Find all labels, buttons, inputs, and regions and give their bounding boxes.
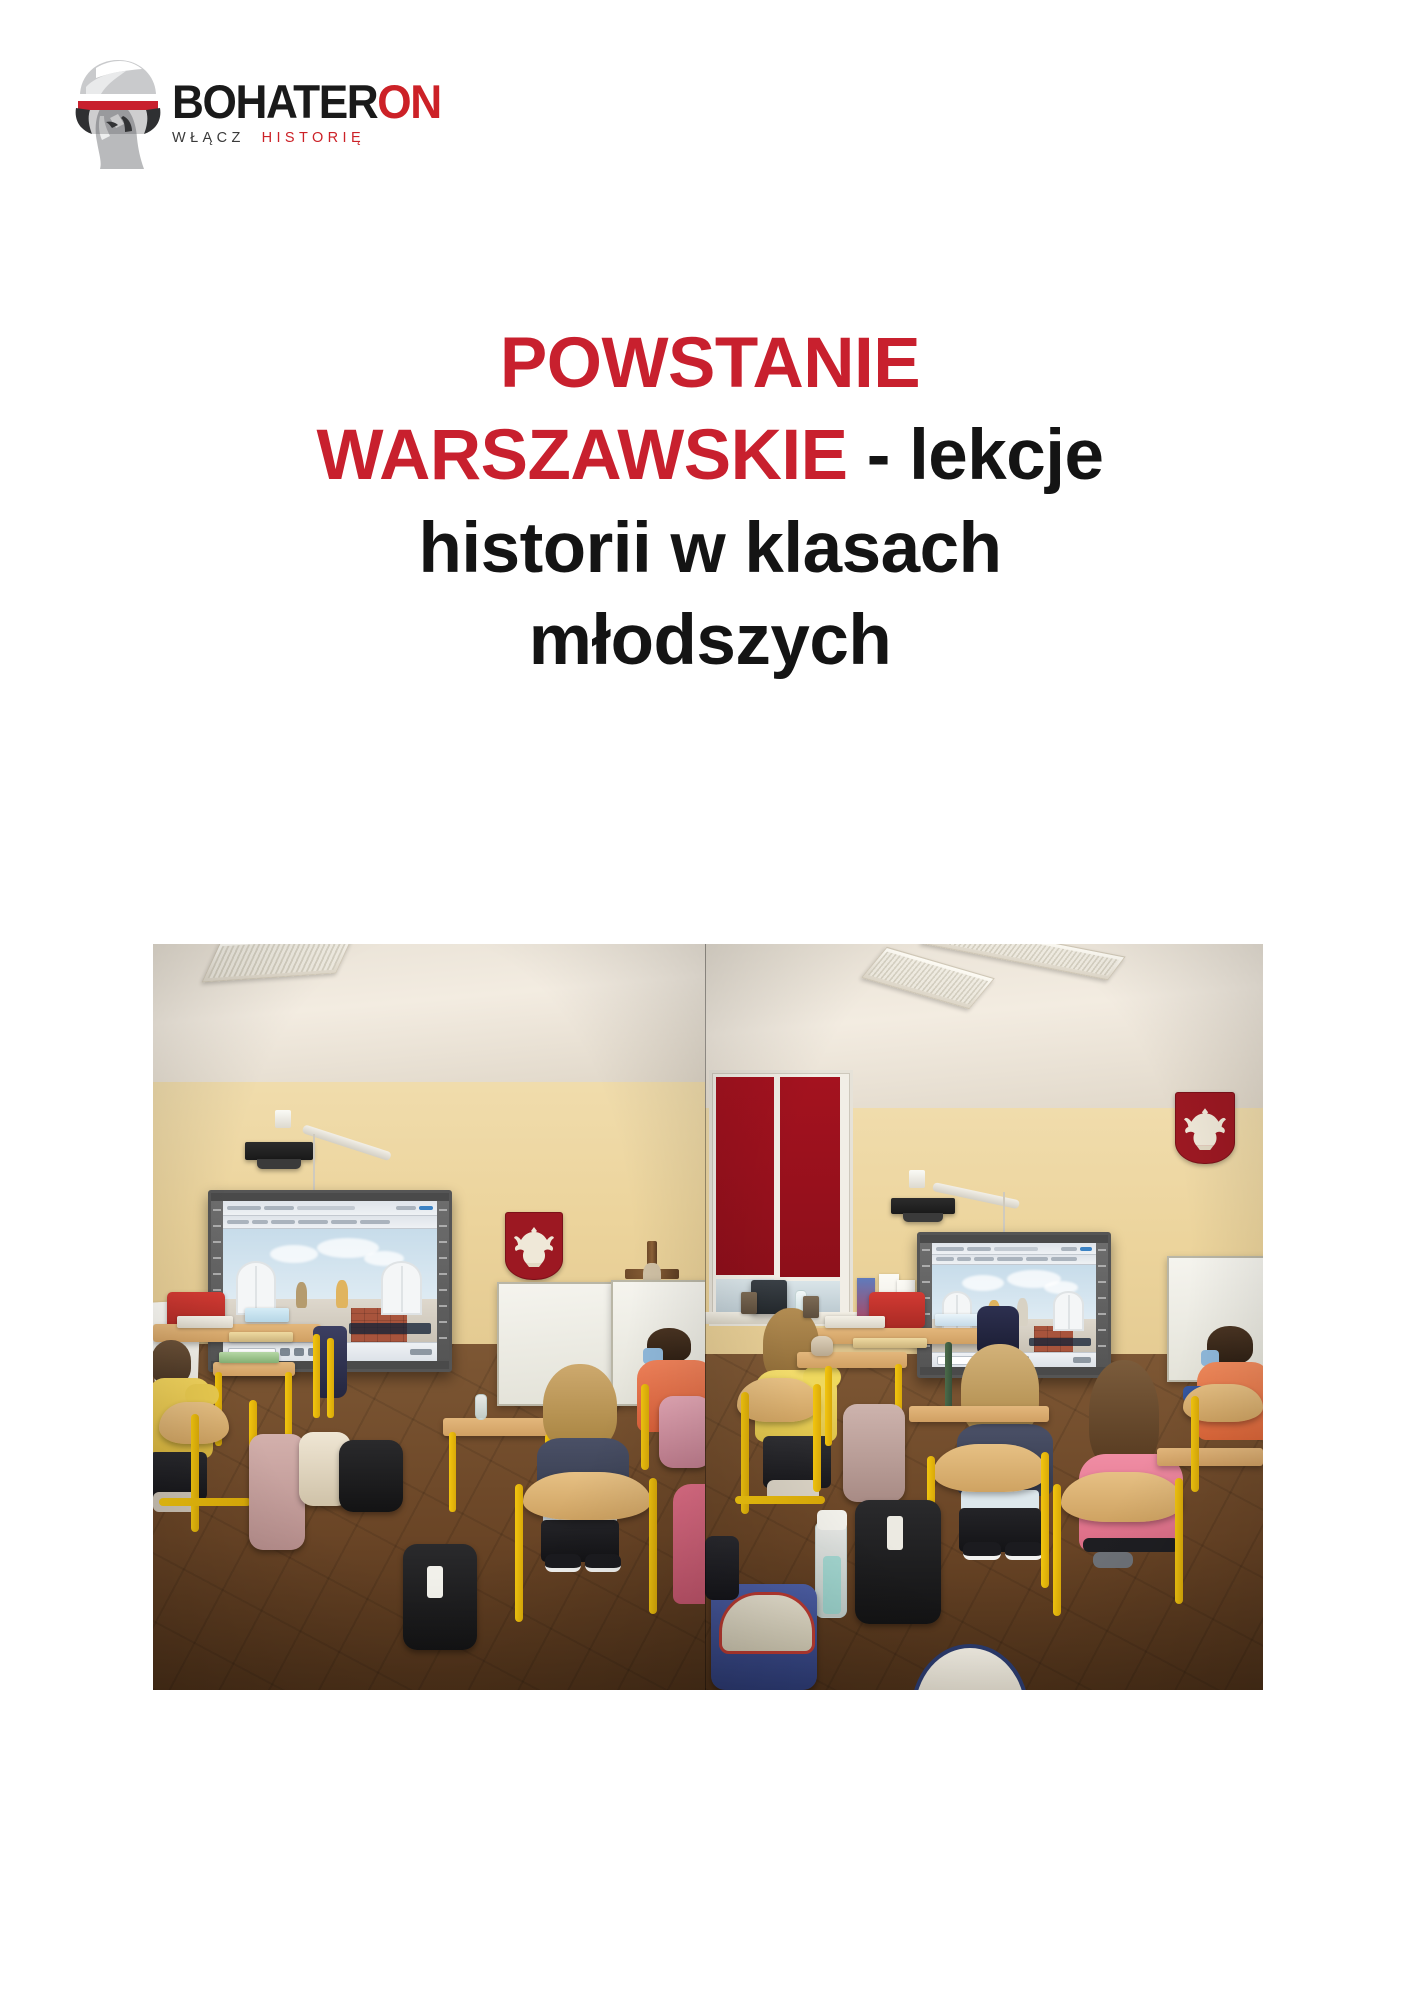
spiderman-print xyxy=(719,1592,815,1654)
desk-boxes xyxy=(935,1314,979,1326)
logo-name-accent: ON xyxy=(377,75,440,128)
board-bezel-right xyxy=(1096,1243,1108,1367)
polish-eagle-emblem xyxy=(1175,1092,1235,1164)
chair-back-2 xyxy=(933,1444,1047,1492)
pencil-cup-2 xyxy=(803,1296,819,1318)
backpack-tag xyxy=(887,1516,903,1550)
backpack-pink-2 xyxy=(659,1396,705,1468)
chair-frame-7 xyxy=(1175,1478,1183,1604)
projector-mount xyxy=(909,1170,925,1188)
soldier-helmet-icon xyxy=(66,52,170,170)
title-line-3: historii w klasach xyxy=(130,503,1290,595)
chair-frame-6 xyxy=(1053,1484,1061,1616)
bottle-liquid xyxy=(823,1556,841,1614)
title-line-2-black: - lekcje xyxy=(847,416,1103,495)
logo-tagline-primary: WŁĄCZ xyxy=(172,130,245,146)
bohateron-logo: BOHATERON WŁĄCZ HISTORIĘ xyxy=(66,52,486,170)
title-line-2-red: WARSZAWSKIE xyxy=(317,416,848,495)
projector xyxy=(891,1198,955,1214)
browser-chrome xyxy=(932,1243,1096,1255)
logo-tagline: WŁĄCZ HISTORIĘ xyxy=(172,130,472,146)
slide-caption xyxy=(349,1323,430,1334)
backpack-patterned xyxy=(843,1404,905,1502)
owl-figurine xyxy=(811,1336,833,1356)
classroom-photo-right xyxy=(705,944,1263,1690)
chair-frame-5 xyxy=(1041,1452,1049,1588)
photo-divider xyxy=(705,944,706,1690)
title-line-1: POWSTANIE xyxy=(130,318,1290,410)
chair-frame-3 xyxy=(159,1498,251,1506)
bottle-cap xyxy=(817,1510,847,1530)
window-blind-left xyxy=(716,1077,774,1275)
polish-eagle-emblem xyxy=(505,1212,563,1280)
chair-frame-5 xyxy=(649,1478,657,1614)
chair-frame-8 xyxy=(1191,1396,1199,1492)
backpack-pink xyxy=(249,1434,305,1550)
desk-papers xyxy=(177,1316,233,1328)
title-line-1-red: POWSTANIE xyxy=(500,324,920,403)
projector-lens xyxy=(903,1213,943,1222)
chair-frame-6 xyxy=(641,1384,649,1470)
pupil-pink-partial xyxy=(673,1484,705,1604)
desk-leg-2 xyxy=(327,1338,334,1418)
bookmarks-bar xyxy=(932,1255,1096,1265)
pupil-navy xyxy=(537,1364,647,1564)
logo-tagline-accent: HISTORIĘ xyxy=(262,130,365,146)
desk-leg-1 xyxy=(825,1366,832,1446)
desk-leg-5 xyxy=(449,1432,456,1512)
chair-frame-3 xyxy=(735,1496,825,1504)
bookmarks-bar xyxy=(223,1216,437,1228)
logo-name: BOHATERON xyxy=(172,78,454,125)
projector-cable xyxy=(313,1134,315,1190)
backpack-black-1 xyxy=(339,1440,403,1512)
browser-chrome xyxy=(223,1201,437,1216)
board-bezel-right xyxy=(437,1201,449,1361)
title-line-4-black: młodszych xyxy=(529,601,891,680)
chair-back-1 xyxy=(737,1378,819,1422)
pencil-cup xyxy=(741,1292,757,1314)
desk-books xyxy=(853,1338,927,1348)
chair-frame-2 xyxy=(813,1384,821,1492)
projector-mount xyxy=(275,1110,291,1128)
logo-name-primary: BOHATER xyxy=(172,75,377,128)
desk-boxes xyxy=(245,1308,289,1322)
page-title: POWSTANIE WARSZAWSKIE - lekcje historii … xyxy=(130,318,1290,687)
chair-back-3 xyxy=(1061,1472,1183,1522)
desk-leg-1 xyxy=(313,1334,320,1418)
classroom-photo-left xyxy=(153,944,705,1690)
student-desk-2 xyxy=(909,1406,1049,1422)
title-line-3-black: historii w klasach xyxy=(419,509,1002,588)
sanitizer-bottle xyxy=(475,1394,487,1420)
logo-wordmark: BOHATERON WŁĄCZ HISTORIĘ xyxy=(172,78,472,168)
projector-lens xyxy=(257,1159,301,1169)
chair-frame-1 xyxy=(191,1414,199,1532)
projector xyxy=(245,1142,313,1160)
chair-back-2 xyxy=(523,1472,651,1520)
photo-collage xyxy=(153,944,1263,1690)
title-line-2: WARSZAWSKIE - lekcje xyxy=(130,410,1290,502)
window-blind-right xyxy=(780,1077,840,1277)
backpack-tag xyxy=(427,1566,443,1598)
title-line-4: młodszych xyxy=(130,595,1290,687)
chair-frame-4 xyxy=(515,1484,523,1622)
pencil-case-floor xyxy=(705,1536,739,1600)
